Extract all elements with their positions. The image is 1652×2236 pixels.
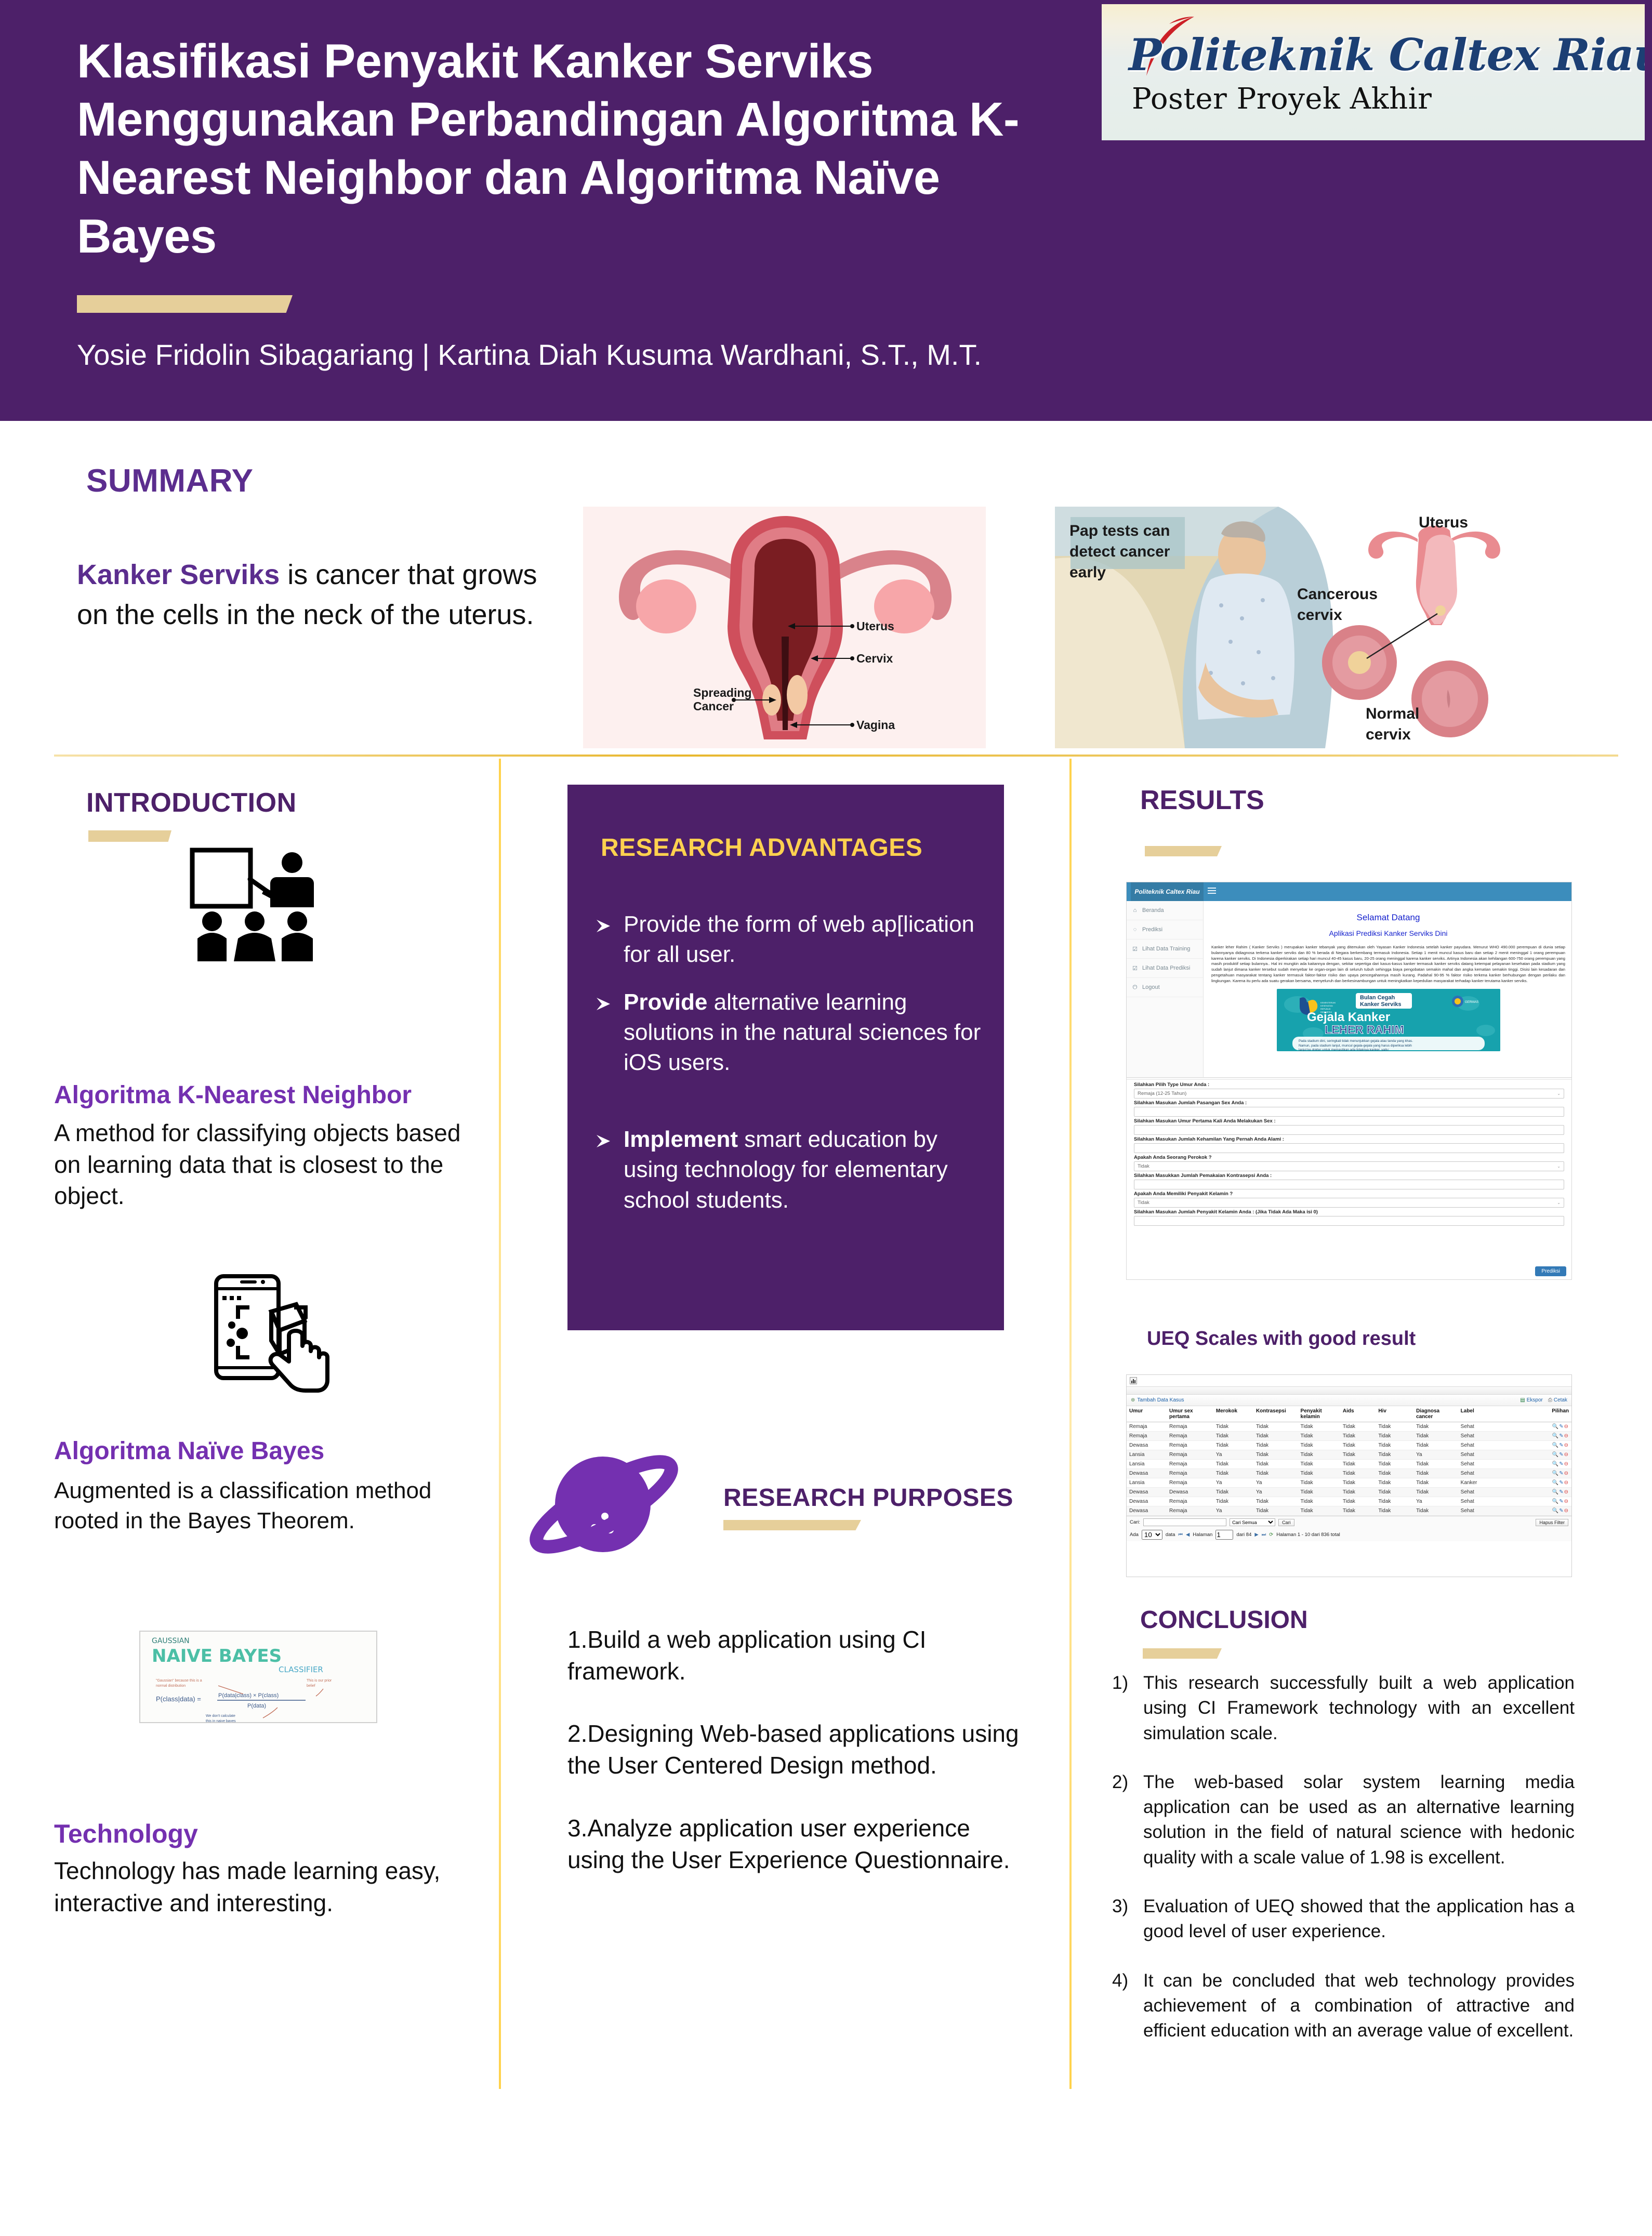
predict-button[interactable]: Prediksi [1535, 1266, 1566, 1276]
edit-icon[interactable]: ✎ [1559, 1480, 1564, 1486]
view-icon[interactable]: 🔍 [1552, 1480, 1559, 1486]
sidebar-item-label: Lihat Data Prediksi [1142, 965, 1190, 971]
label-normal-cervix: Normal [1366, 705, 1419, 722]
research-advantages-list: Provide the form of web ap[lication for … [594, 909, 989, 1233]
label-cancerous-cervix: Cancerous [1297, 586, 1378, 603]
cell: Ya [1413, 1497, 1458, 1506]
bayes-kicker: GAUSSIAN [152, 1637, 190, 1645]
bayes-title: NAIVE BAYES [152, 1646, 282, 1666]
prev-page-icon[interactable]: ◀ [1186, 1532, 1190, 1538]
table-row: DewasaRemajaTidakTidakTidakTidakTidakYaS… [1127, 1497, 1571, 1506]
cell: Sehat [1458, 1432, 1498, 1441]
cell: Tidak [1298, 1478, 1340, 1488]
first-sex-age-input[interactable] [1134, 1125, 1564, 1135]
rows-suffix-label: data [1166, 1532, 1175, 1538]
export-icon: ▤ [1520, 1397, 1525, 1403]
cell: Tidak [1298, 1497, 1340, 1506]
cell: Tidak [1298, 1441, 1340, 1450]
naive-bayes-description: Augmented is a classification method roo… [54, 1476, 449, 1536]
col-label[interactable]: Label [1458, 1406, 1498, 1422]
cell: Tidak [1253, 1450, 1298, 1460]
delete-icon[interactable]: ⊖ [1564, 1499, 1569, 1504]
column-divider-right [1069, 759, 1072, 2089]
delete-icon[interactable]: ⊖ [1564, 1480, 1569, 1486]
label-spreading-cancer: Spreading [693, 686, 751, 699]
app-welcome-subtitle: Aplikasi Prediksi Kanker Serviks Dini [1211, 929, 1565, 937]
cell: Ya [1213, 1478, 1253, 1488]
knn-title: Algoritma K-Nearest Neighbor [54, 1081, 485, 1109]
cell: Tidak [1413, 1469, 1458, 1478]
chevron-down-icon: ⌄ [1557, 1200, 1561, 1205]
advantage-text: Provide the form of web ap[lication for … [624, 911, 974, 967]
search-button[interactable]: Cari [1278, 1519, 1294, 1526]
table-header-row: Umur Umur sex pertama Merokok Kontraseps… [1127, 1406, 1571, 1422]
advantage-item: Provide the form of web ap[lication for … [594, 909, 989, 970]
app-home-screenshot: Politeknik Caltex Riau ⌂ Beranda ◌ Predi… [1126, 882, 1572, 1094]
research-purposes-underline [723, 1520, 861, 1530]
table-icon-bar [1127, 1375, 1571, 1386]
sidebar-item-lihat-data-training[interactable]: ☑ Lihat Data Training [1127, 940, 1203, 959]
svg-text:KEMENTERIAN: KEMENTERIAN [1320, 1001, 1336, 1004]
svg-text:Gejala Kanker: Gejala Kanker [1307, 1010, 1390, 1024]
page-label: Halaman [1193, 1532, 1212, 1538]
cell: Tidak [1213, 1422, 1253, 1432]
view-icon[interactable]: 🔍 [1552, 1452, 1559, 1458]
app-prediction-form-screenshot: Silahkan Pilih Type Umur Anda : Remaja (… [1126, 1077, 1572, 1280]
cell: Dewasa [1127, 1506, 1167, 1516]
logo-wordmark: Politeknik Caltex Riau [1129, 29, 1645, 81]
export-button[interactable]: Ekspor [1527, 1397, 1543, 1403]
delete-icon[interactable]: ⊖ [1564, 1489, 1569, 1495]
field-label: Silahkan Masukan Jumlah Kehamilan Yang P… [1134, 1136, 1564, 1142]
cell: Tidak [1298, 1422, 1340, 1432]
cell: Tidak [1413, 1460, 1458, 1469]
table-search-bar: Cari: Cari Semua Cari Hapus Filter [1127, 1516, 1571, 1528]
row-actions[interactable]: 🔍✎⊖ [1527, 1441, 1571, 1450]
table-toolbar: ⊕ Tambah Data Kasus ▤ Ekspor ⎙ Cetak [1127, 1395, 1571, 1406]
svg-text:Namun, pada stadium lanjut, mu: Namun, pada stadium lanjut, muncul gejal… [1299, 1044, 1412, 1048]
refresh-icon[interactable]: ⟳ [1269, 1532, 1273, 1538]
hamburger-menu-icon[interactable] [1208, 888, 1216, 895]
field-label: Apakah Anda Seorang Perokok ? [1134, 1155, 1564, 1160]
col-umur-sex-pertama[interactable]: Umur sex pertama [1167, 1406, 1213, 1422]
cell: Tidak [1298, 1469, 1340, 1478]
view-icon[interactable]: 🔍 [1552, 1471, 1559, 1476]
app-campaign-banner: KEMENTERIAN KESEHATAN REPUBLIK INDONESIA… [1277, 989, 1500, 1051]
table-row: RemajaRemajaTidakTidakTidakTidakTidakTid… [1127, 1432, 1571, 1441]
cell: Tidak [1413, 1422, 1458, 1432]
purpose-item: 3.Analyze application user experience us… [567, 1812, 1030, 1875]
cell: Tidak [1413, 1478, 1458, 1488]
check-square-icon: ☑ [1132, 946, 1138, 952]
last-page-icon[interactable]: ⏭ [1262, 1532, 1266, 1538]
label-vagina: Vagina [856, 718, 895, 732]
sidebar-item-label: Prediksi [1142, 927, 1162, 933]
table-row: LansiaRemajaYaYaTidakTidakTidakTidakKank… [1127, 1478, 1571, 1488]
conclusion-list: 1) This research successfully built a we… [1112, 1671, 1575, 2068]
chevron-down-icon: ⌄ [1557, 1091, 1561, 1096]
sidebar-item-prediksi[interactable]: ◌ Prediksi [1127, 920, 1203, 940]
advantage-bold: Implement [624, 1127, 738, 1152]
view-icon[interactable]: 🔍 [1552, 1489, 1559, 1495]
table-row: DewasaDewasaTidakYaTidakTidakTidakTidakS… [1127, 1488, 1571, 1497]
clear-filter-button[interactable]: Hapus Filter [1536, 1519, 1568, 1526]
cell: Tidak [1340, 1478, 1376, 1488]
augmented-reality-phone-icon [192, 1273, 343, 1403]
cell: Tidak [1376, 1460, 1413, 1469]
label-uterus: Uterus [856, 619, 894, 633]
cell: Dewasa [1127, 1469, 1167, 1478]
col-spacer [1498, 1406, 1527, 1422]
svg-text:cervix: cervix [1366, 726, 1411, 743]
page-of-label: dari 84 [1236, 1532, 1251, 1538]
cell: Tidak [1253, 1506, 1298, 1516]
rows-per-page-select[interactable]: 10 [1142, 1530, 1162, 1540]
row-actions[interactable]: 🔍✎⊖ [1527, 1432, 1571, 1441]
col-umur[interactable]: Umur [1127, 1406, 1167, 1422]
cell: Sehat [1458, 1488, 1498, 1497]
home-icon: ⌂ [1132, 907, 1138, 914]
chart-icon[interactable] [1130, 1377, 1137, 1384]
table-row: RemajaRemajaTidakTidakTidakTidakTidakTid… [1127, 1422, 1571, 1432]
pregnancies-input[interactable] [1134, 1143, 1564, 1153]
cell: Dewasa [1127, 1488, 1167, 1497]
advantage-item: Implement smart education by using techn… [594, 1124, 989, 1215]
cell: Dewasa [1127, 1497, 1167, 1506]
row-actions[interactable]: 🔍✎⊖ [1527, 1506, 1571, 1516]
search-scope-select[interactable]: Cari Semua [1230, 1518, 1275, 1526]
cell: Remaja [1167, 1441, 1213, 1450]
cell: Sehat [1458, 1506, 1498, 1516]
svg-text:lanjut ke dokter untuk memasti: lanjut ke dokter untuk memastikan ada ti… [1299, 1048, 1390, 1051]
sex-partners-input[interactable] [1134, 1107, 1564, 1117]
bayes-formula-left: P(class|data) = [156, 1695, 201, 1703]
delete-icon[interactable]: ⊖ [1564, 1508, 1569, 1514]
field-label: Silahkan Masukan Jumlah Penyakit Kelamin… [1134, 1209, 1564, 1215]
col-merokok[interactable]: Merokok [1213, 1406, 1253, 1422]
cell: Tidak [1253, 1460, 1298, 1469]
cell: Tidak [1376, 1441, 1413, 1450]
add-case-button[interactable]: Tambah Data Kasus [1137, 1397, 1184, 1403]
col-penyakit-kelamin[interactable]: Penyakit kelamin [1298, 1406, 1340, 1422]
cell: Remaja [1167, 1478, 1213, 1488]
label-uterus-2: Uterus [1419, 514, 1468, 531]
form-fields: Silahkan Pilih Type Umur Anda : Remaja (… [1127, 1080, 1571, 1229]
cell: Tidak [1298, 1506, 1340, 1516]
refresh-icon: ◌ [1132, 927, 1138, 933]
sidebar-item-lihat-data-prediksi[interactable]: ☑ Lihat Data Prediksi [1127, 959, 1203, 978]
cell: Remaja [1167, 1432, 1213, 1441]
cell: Remaja [1167, 1460, 1213, 1469]
svg-text:normal distribution: normal distribution [156, 1684, 186, 1688]
uterus-anatomy-image: Uterus Cervix Spreading Cancer Vagina [583, 507, 986, 748]
table-body: RemajaRemajaTidakTidakTidakTidakTidakTid… [1127, 1422, 1571, 1516]
view-icon[interactable]: 🔍 [1552, 1508, 1559, 1514]
check-square-icon: ☑ [1132, 965, 1138, 972]
cell: Tidak [1253, 1432, 1298, 1441]
author-line: Yosie Fridolin Sibagariang | Kartina Dia… [77, 338, 1116, 372]
chevron-right-icon [594, 1124, 612, 1215]
field-label: Silahkan Pilih Type Umur Anda : [1134, 1082, 1564, 1088]
edit-icon[interactable]: ✎ [1559, 1443, 1564, 1448]
edit-icon[interactable]: ✎ [1559, 1499, 1564, 1504]
cell: Kanker [1458, 1478, 1498, 1488]
svg-text:detect cancer: detect cancer [1069, 543, 1170, 560]
cell: Tidak [1213, 1488, 1253, 1497]
cell: Tidak [1253, 1441, 1298, 1450]
conclusion-number: 3) [1112, 1894, 1135, 1944]
svg-text:early: early [1069, 564, 1106, 581]
conclusion-text: It can be concluded that web technology … [1143, 1968, 1575, 2044]
first-page-icon[interactable]: ⏮ [1178, 1532, 1183, 1538]
app-intro-paragraph: Kanker leher Rahim ( Kanker Serviks ) me… [1211, 945, 1565, 984]
row-actions[interactable]: 🔍✎⊖ [1527, 1450, 1571, 1460]
field-label: Silahkan Masukkan Jumlah Pemakaian Kontr… [1134, 1173, 1564, 1179]
cell: Dewasa [1127, 1441, 1167, 1450]
cell: Tidak [1298, 1460, 1340, 1469]
cell: Lansia [1127, 1478, 1167, 1488]
conclusion-item: 1) This research successfully built a we… [1112, 1671, 1575, 1746]
cell: Tidak [1298, 1432, 1340, 1441]
research-advantages-heading: RESEARCH ADVANTAGES [601, 833, 922, 862]
edit-icon[interactable]: ✎ [1559, 1461, 1564, 1467]
cell: Tidak [1253, 1469, 1298, 1478]
delete-icon[interactable]: ⊖ [1564, 1443, 1569, 1448]
cell: Sehat [1458, 1422, 1498, 1432]
bayes-formula-num: P(data|class) × P(class) [218, 1692, 279, 1699]
svg-text:this in naive bayes: this in naive bayes [206, 1719, 236, 1723]
cell: Tidak [1213, 1441, 1253, 1450]
col-kontrasepsi[interactable]: Kontrasepsi [1253, 1406, 1298, 1422]
conclusion-text: The web-based solar system learning medi… [1143, 1770, 1575, 1870]
svg-text:cervix: cervix [1297, 606, 1342, 624]
col-hiv[interactable]: Hiv [1376, 1406, 1413, 1422]
smoker-select[interactable]: Tidak ⌄ [1134, 1161, 1564, 1171]
purpose-item: 1.Build a web application using CI frame… [567, 1624, 1030, 1687]
table-row: LansiaRemajaYaTidakTidakTidakTidakYaSeha… [1127, 1450, 1571, 1460]
cell: Tidak [1340, 1450, 1376, 1460]
cell: Sehat [1458, 1469, 1498, 1478]
cell: Sehat [1458, 1497, 1498, 1506]
svg-text:Pada stadium dini, seringkali: Pada stadium dini, seringkali tidak menu… [1299, 1039, 1413, 1043]
cell: Remaja [1167, 1497, 1213, 1506]
cell: Ya [1253, 1478, 1298, 1488]
delete-icon[interactable]: ⊖ [1564, 1433, 1569, 1439]
naive-bayes-whiteboard-image: GAUSSIAN NAIVE BAYES CLASSIFIER "Gaussia… [139, 1631, 377, 1723]
row-actions[interactable]: 🔍✎⊖ [1527, 1478, 1571, 1488]
cell: Tidak [1213, 1432, 1253, 1441]
field-label: Silahkan Masukan Umur Pertama Kali Anda … [1134, 1118, 1564, 1124]
summary-lead: Kanker Serviks [77, 559, 280, 590]
bayes-note-right: This is our prior [307, 1679, 332, 1683]
purpose-item: 2.Designing Web-based applications using… [567, 1718, 1030, 1781]
row-actions[interactable]: 🔍✎⊖ [1527, 1497, 1571, 1506]
cell: Tidak [1340, 1506, 1376, 1516]
page-title: Klasifikasi Penyakit Kanker Serviks Meng… [77, 32, 1038, 266]
row-actions[interactable]: 🔍✎⊖ [1527, 1422, 1571, 1432]
cell: Remaja [1127, 1422, 1167, 1432]
cell: Tidak [1413, 1488, 1458, 1497]
app-brand: Politeknik Caltex Riau [1131, 882, 1204, 901]
app-sidebar: ⌂ Beranda ◌ Prediksi ☑ Lihat Data Traini… [1127, 901, 1204, 1094]
table-pagination-bar: Ada 10 data ⏮ ◀ Halaman dari 84 ▶ ⏭ ⟳ Ha… [1127, 1528, 1571, 1541]
table-row: DewasaRemajaTidakTidakTidakTidakTidakTid… [1127, 1469, 1571, 1478]
results-underline [1145, 846, 1222, 856]
view-icon[interactable]: 🔍 [1552, 1499, 1559, 1504]
row-actions[interactable]: 🔍✎⊖ [1527, 1488, 1571, 1497]
delete-icon[interactable]: ⊖ [1564, 1424, 1569, 1430]
bayes-formula-den: P(data) [247, 1703, 266, 1709]
chevron-right-icon [594, 987, 612, 1078]
std-select[interactable]: Tidak ⌄ [1134, 1198, 1564, 1208]
conclusion-item: 2) The web-based solar system learning m… [1112, 1770, 1575, 1870]
col-pilihan: Pilihan [1527, 1406, 1571, 1422]
results-heading: RESULTS [1140, 785, 1264, 816]
conclusion-text: Evaluation of UEQ showed that the applic… [1143, 1894, 1575, 1944]
cell: Tidak [1213, 1469, 1253, 1478]
research-advantages-panel: RESEARCH ADVANTAGES Provide the form of … [567, 785, 1004, 1330]
svg-text:belief: belief [307, 1684, 315, 1688]
conclusion-number: 4) [1112, 1968, 1135, 2044]
conclusion-number: 1) [1112, 1671, 1135, 1746]
cell: Tidak [1376, 1488, 1413, 1497]
cell: Tidak [1340, 1422, 1376, 1432]
bayes-subtitle: CLASSIFIER [279, 1665, 323, 1674]
cases-table: Umur Umur sex pertama Merokok Kontraseps… [1127, 1406, 1571, 1516]
conclusion-item: 4) It can be concluded that web technolo… [1112, 1968, 1575, 2044]
col-diagnosa-cancer[interactable]: Diagnosa cancer [1413, 1406, 1458, 1422]
cell: Sehat [1458, 1460, 1498, 1469]
poster-header: Klasifikasi Penyakit Kanker Serviks Meng… [0, 0, 1652, 421]
age-type-select[interactable]: Remaja (12-25 Tahun) ⌄ [1134, 1089, 1564, 1099]
app-data-table-screenshot: ⊕ Tambah Data Kasus ▤ Ekspor ⎙ Cetak Umu… [1126, 1374, 1572, 1577]
cell: Remaja [1127, 1432, 1167, 1441]
conclusion-underline [1143, 1648, 1222, 1659]
cell: Tidak [1376, 1450, 1413, 1460]
row-actions[interactable]: 🔍✎⊖ [1527, 1469, 1571, 1478]
app-topbar: Politeknik Caltex Riau [1127, 882, 1572, 901]
cell: Tidak [1376, 1422, 1413, 1432]
technology-title: Technology [54, 1819, 198, 1849]
next-page-icon[interactable]: ▶ [1254, 1532, 1258, 1538]
cell: Tidak [1376, 1432, 1413, 1441]
view-icon[interactable]: 🔍 [1552, 1443, 1559, 1448]
svg-text:Kanker Serviks: Kanker Serviks [1360, 1001, 1402, 1008]
cell: Tidak [1413, 1432, 1458, 1441]
row-actions[interactable]: 🔍✎⊖ [1527, 1460, 1571, 1469]
edit-icon[interactable]: ✎ [1559, 1452, 1564, 1458]
cell: Tidak [1253, 1497, 1298, 1506]
app-content: Selamat Datang Aplikasi Prediksi Kanker … [1204, 901, 1572, 1094]
edit-icon[interactable]: ✎ [1559, 1508, 1564, 1514]
advantage-item: Provide alternative learning solutions i… [594, 987, 989, 1078]
print-button[interactable]: Cetak [1554, 1397, 1567, 1403]
cell: Dewasa [1167, 1488, 1213, 1497]
sidebar-item-label: Beranda [1142, 907, 1164, 914]
edit-icon[interactable]: ✎ [1559, 1471, 1564, 1476]
conclusion-heading: CONCLUSION [1140, 1606, 1308, 1634]
naive-bayes-title: Algoritma Naïve Bayes [54, 1437, 485, 1465]
bayes-note-left: "Gaussian" because this is a [156, 1679, 202, 1683]
table-row: DewasaRemajaYaTidakTidakTidakTidakTidakS… [1127, 1506, 1571, 1516]
col-aids[interactable]: Aids [1340, 1406, 1376, 1422]
cell: Tidak [1298, 1450, 1340, 1460]
search-input[interactable] [1143, 1518, 1226, 1526]
cell: Remaja [1167, 1469, 1213, 1478]
contraceptive-input[interactable] [1134, 1180, 1564, 1189]
delete-icon[interactable]: ⊖ [1564, 1471, 1569, 1476]
sidebar-item-logout[interactable]: ⏻ Logout [1127, 978, 1203, 997]
edit-icon[interactable]: ✎ [1559, 1433, 1564, 1439]
cell: Lansia [1127, 1460, 1167, 1469]
view-icon[interactable]: 🔍 [1552, 1424, 1559, 1430]
cell: Tidak [1340, 1460, 1376, 1469]
introduction-underline [88, 830, 171, 842]
institution-logo: Politeknik Caltex Riau Poster Proyek Akh… [1102, 4, 1645, 140]
pagination-status: Halaman 1 - 10 dari 836 total [1276, 1532, 1340, 1538]
planet-icon [526, 1434, 682, 1575]
table-strip [1127, 1386, 1571, 1395]
chevron-right-icon [594, 909, 612, 970]
label-cervix: Cervix [856, 652, 893, 665]
advantage-bold: Provide [624, 989, 707, 1015]
search-label: Cari: [1130, 1519, 1140, 1525]
page-number-input[interactable] [1215, 1530, 1233, 1540]
technology-description: Technology has made learning easy, inter… [54, 1855, 470, 1919]
table-row: LansiaRemajaTidakTidakTidakTidakTidakTid… [1127, 1460, 1571, 1469]
summary-heading: SUMMARY [86, 462, 254, 499]
delete-icon[interactable]: ⊖ [1564, 1461, 1569, 1467]
printer-icon: ⎙ [1548, 1397, 1552, 1403]
cell: Tidak [1213, 1497, 1253, 1506]
std-count-input[interactable] [1134, 1216, 1564, 1226]
sidebar-item-beranda[interactable]: ⌂ Beranda [1127, 901, 1203, 920]
cell: Tidak [1376, 1478, 1413, 1488]
conclusion-item: 3) Evaluation of UEQ showed that the app… [1112, 1894, 1575, 1944]
cell: Ya [1413, 1450, 1458, 1460]
plus-circle-icon: ⊕ [1131, 1397, 1135, 1403]
app-welcome-title: Selamat Datang [1211, 912, 1565, 923]
cell: Tidak [1340, 1469, 1376, 1478]
edit-icon[interactable]: ✎ [1559, 1424, 1564, 1430]
cell: Tidak [1253, 1422, 1298, 1432]
ueq-caption: UEQ Scales with good result [1147, 1328, 1416, 1350]
cell: Tidak [1298, 1488, 1340, 1497]
svg-text:KESEHATAN: KESEHATAN [1320, 1004, 1333, 1007]
bayes-note-bottom: We don't calculate [206, 1714, 235, 1718]
cell: Lansia [1127, 1450, 1167, 1460]
cell: Tidak [1376, 1506, 1413, 1516]
cell: Remaja [1167, 1422, 1213, 1432]
cell: Tidak [1340, 1432, 1376, 1441]
introduction-heading: INTRODUCTION [86, 787, 297, 818]
logo-subtitle: Poster Proyek Akhir [1132, 82, 1432, 116]
cell: Tidak [1376, 1469, 1413, 1478]
svg-text:GERMAS: GERMAS [1465, 1001, 1478, 1004]
section-divider-horizontal [54, 755, 1618, 757]
cell: Tidak [1340, 1488, 1376, 1497]
view-icon[interactable]: 🔍 [1552, 1433, 1559, 1439]
cell: Ya [1213, 1450, 1253, 1460]
knn-description: A method for classifying objects based o… [54, 1117, 485, 1212]
title-underline-bar [77, 295, 293, 313]
delete-icon[interactable]: ⊖ [1564, 1452, 1569, 1458]
cell: Tidak [1340, 1497, 1376, 1506]
sidebar-item-label: Lihat Data Training [1142, 946, 1190, 952]
edit-icon[interactable]: ✎ [1559, 1489, 1564, 1495]
view-icon[interactable]: 🔍 [1552, 1461, 1559, 1467]
rows-prefix-label: Ada [1130, 1532, 1139, 1538]
